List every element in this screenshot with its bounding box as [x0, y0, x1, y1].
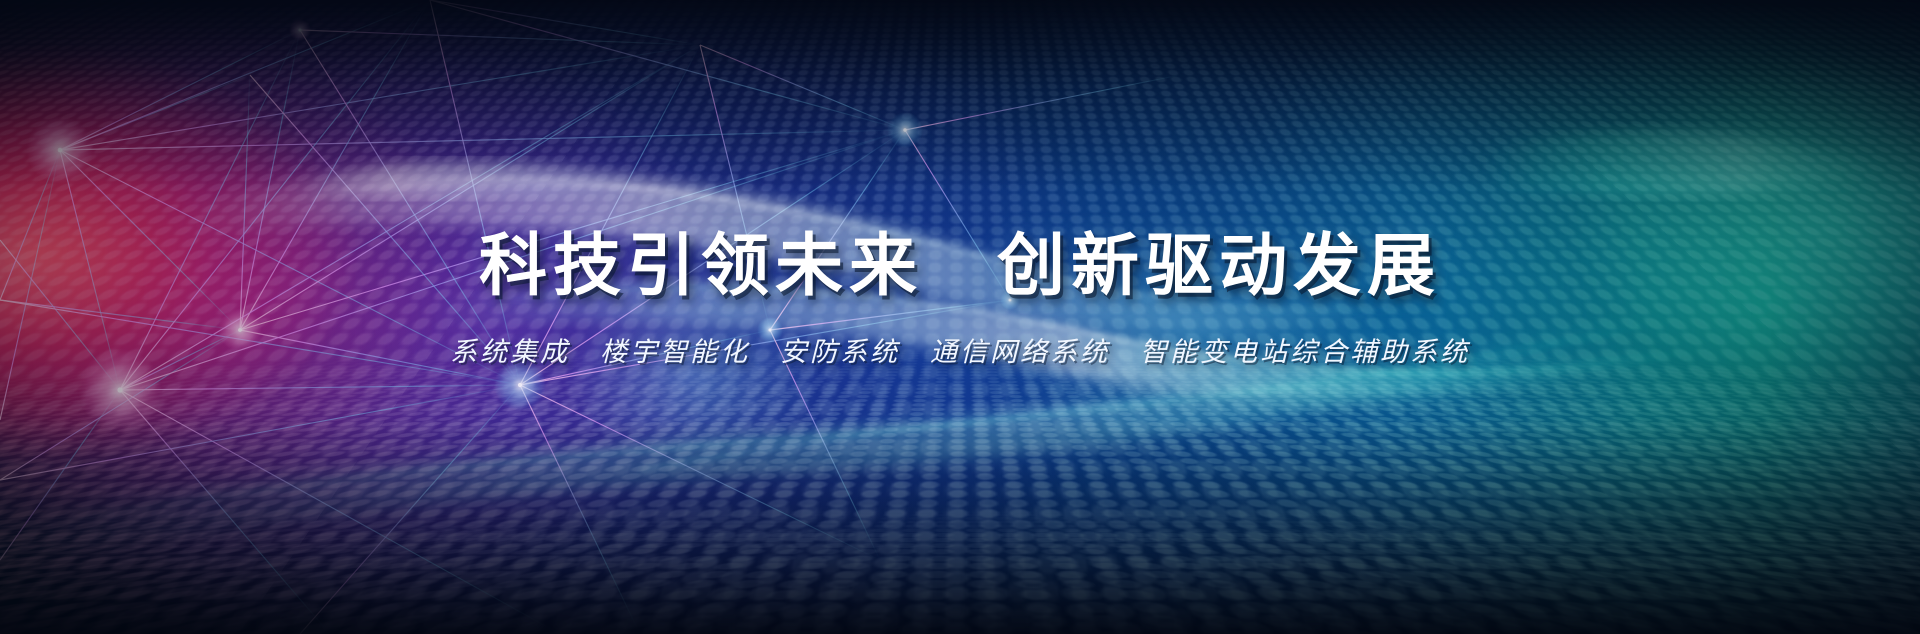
banner-text-block: 科技引领未来 创新驱动发展 系统集成 楼宇智能化 安防系统 通信网络系统 智能变…: [0, 0, 1920, 634]
banner-headline: 科技引领未来 创新驱动发展: [479, 231, 1441, 303]
tech-banner: 科技引领未来 创新驱动发展 系统集成 楼宇智能化 安防系统 通信网络系统 智能变…: [0, 0, 1920, 634]
banner-subtitle: 系统集成 楼宇智能化 安防系统 通信网络系统 智能变电站综合辅助系统: [450, 330, 1470, 369]
